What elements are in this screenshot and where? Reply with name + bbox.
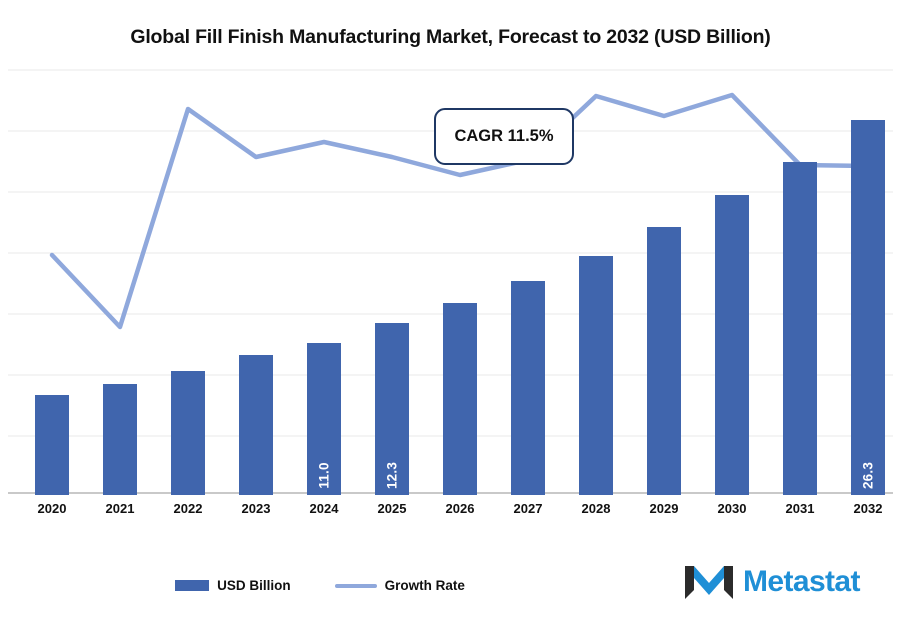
bar-2029[interactable]: [647, 227, 681, 495]
bar-2026[interactable]: [443, 303, 477, 495]
bar-2022[interactable]: [171, 371, 205, 495]
bar-2027[interactable]: [511, 281, 545, 495]
bar-value-label-2032: 26.3: [861, 462, 876, 489]
x-tick-2028: 2028: [566, 501, 626, 516]
bar-2025[interactable]: 12.3: [375, 323, 409, 495]
chart-page: Global Fill Finish Manufacturing Market,…: [0, 0, 901, 627]
x-tick-2024: 2024: [294, 501, 354, 516]
cagr-callout: CAGR 11.5%: [434, 108, 574, 165]
cagr-callout-text: CAGR 11.5%: [454, 127, 553, 146]
bar-2032[interactable]: 26.3: [851, 120, 885, 495]
chart-title: Global Fill Finish Manufacturing Market,…: [0, 26, 901, 49]
bar-2024[interactable]: 11.0: [307, 343, 341, 495]
legend-item-usd-billion[interactable]: USD Billion: [175, 578, 291, 593]
metastat-logo-text: Metastat: [743, 567, 860, 597]
legend-line-swatch-icon: [335, 584, 377, 588]
bar-value-label-2024: 11.0: [317, 462, 332, 488]
x-tick-2030: 2030: [702, 501, 762, 516]
x-axis-labels: 2020 2021 2022 2023 2024 2025 2026 2027 …: [0, 495, 901, 525]
bar-2020[interactable]: [35, 395, 69, 495]
x-tick-2020: 2020: [22, 501, 82, 516]
chart-legend: USD Billion Growth Rate: [0, 578, 640, 593]
bar-2021[interactable]: [103, 384, 137, 495]
x-tick-2026: 2026: [430, 501, 490, 516]
bar-2023[interactable]: [239, 355, 273, 495]
legend-bar-swatch-icon: [175, 580, 209, 591]
legend-label-usd-billion: USD Billion: [217, 578, 291, 593]
x-tick-2021: 2021: [90, 501, 150, 516]
bar-2031[interactable]: [783, 162, 817, 495]
x-tick-2031: 2031: [770, 501, 830, 516]
legend-label-growth-rate: Growth Rate: [385, 578, 465, 593]
x-tick-2032: 2032: [838, 501, 898, 516]
x-tick-2025: 2025: [362, 501, 422, 516]
bar-2028[interactable]: [579, 256, 613, 495]
x-tick-2022: 2022: [158, 501, 218, 516]
x-tick-2023: 2023: [226, 501, 286, 516]
bar-value-label-2025: 12.3: [385, 462, 400, 489]
x-tick-2027: 2027: [498, 501, 558, 516]
metastat-m-icon: [682, 562, 736, 602]
legend-item-growth-rate[interactable]: Growth Rate: [335, 578, 465, 593]
x-tick-2029: 2029: [634, 501, 694, 516]
metastat-logo: Metastat: [682, 562, 860, 602]
bar-2030[interactable]: [715, 195, 749, 495]
